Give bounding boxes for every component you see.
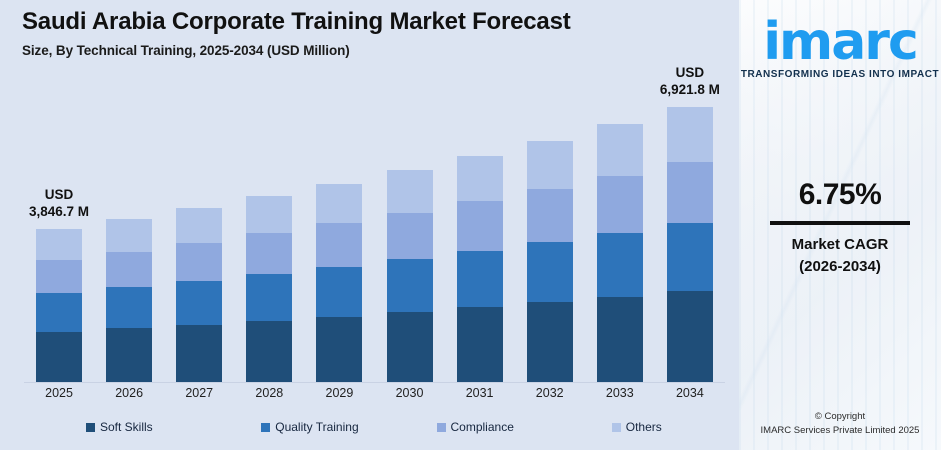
- bar-segment[interactable]: [667, 107, 713, 162]
- stacked-bar[interactable]: [387, 170, 433, 382]
- bar-segment[interactable]: [457, 307, 503, 382]
- bar-segment[interactable]: [667, 291, 713, 382]
- bar-segment[interactable]: [667, 162, 713, 223]
- brand-panel: imarc TRANSFORMING IDEAS INTO IMPACT 6.7…: [739, 0, 941, 450]
- bar-segment[interactable]: [527, 189, 573, 242]
- legend-label: Soft Skills: [100, 420, 153, 434]
- bar-slot[interactable]: USD6,921.8 M: [655, 80, 725, 382]
- x-axis-tick-label: 2028: [234, 386, 304, 400]
- stacked-bar[interactable]: [597, 124, 643, 382]
- bar-segment[interactable]: [176, 208, 222, 243]
- legend-item[interactable]: Others: [550, 420, 725, 434]
- x-axis-tick-label: 2030: [374, 386, 444, 400]
- copyright-line1: © Copyright: [739, 410, 941, 424]
- bar-segment[interactable]: [457, 251, 503, 308]
- bar-segment[interactable]: [527, 141, 573, 189]
- stacked-bar[interactable]: [527, 141, 573, 382]
- stacked-bar[interactable]: [316, 184, 362, 382]
- stacked-bar[interactable]: [106, 219, 152, 382]
- bar-slot[interactable]: [94, 80, 164, 382]
- cagr-divider: [770, 221, 910, 225]
- copyright: © Copyright IMARC Services Private Limit…: [739, 410, 941, 438]
- stacked-bar[interactable]: [36, 229, 82, 382]
- bar-segment[interactable]: [36, 332, 82, 382]
- cagr-block: 6.75% Market CAGR (2026-2034): [739, 178, 941, 278]
- logo-wordmark: imarc: [739, 18, 941, 67]
- bar-segment[interactable]: [597, 297, 643, 382]
- bar-segment[interactable]: [246, 196, 292, 233]
- x-axis-tick-label: 2032: [515, 386, 585, 400]
- bar-slot[interactable]: USD3,846.7 M: [24, 80, 94, 382]
- bar-slot[interactable]: [374, 80, 444, 382]
- bar-slot[interactable]: [234, 80, 304, 382]
- chart-header: Saudi Arabia Corporate Training Market F…: [22, 8, 571, 58]
- stacked-bar[interactable]: [246, 196, 292, 382]
- bar-segment[interactable]: [36, 260, 82, 294]
- bar-segment[interactable]: [316, 317, 362, 382]
- x-axis-tick-label: 2029: [304, 386, 374, 400]
- bar-segment[interactable]: [36, 229, 82, 260]
- legend-item[interactable]: Compliance: [375, 420, 550, 434]
- x-axis-tick-label: 2027: [164, 386, 234, 400]
- bar-segment[interactable]: [527, 302, 573, 382]
- bar-segment[interactable]: [246, 274, 292, 320]
- legend-swatch-icon: [612, 423, 621, 432]
- legend-swatch-icon: [86, 423, 95, 432]
- bar-segment[interactable]: [106, 219, 152, 252]
- bar-segment[interactable]: [457, 201, 503, 251]
- bar-segment[interactable]: [597, 124, 643, 176]
- bar-segment[interactable]: [527, 242, 573, 302]
- bar-segment[interactable]: [316, 223, 362, 267]
- bar-segment[interactable]: [387, 259, 433, 312]
- bar-segment[interactable]: [246, 321, 292, 382]
- legend-label: Others: [626, 420, 662, 434]
- plot-area: USD3,846.7 MUSD6,921.8 M: [0, 80, 739, 383]
- stacked-bar[interactable]: [176, 208, 222, 382]
- bar-segment[interactable]: [387, 213, 433, 260]
- bar-slot[interactable]: [445, 80, 515, 382]
- bar-segment[interactable]: [176, 281, 222, 325]
- x-axis-tick-label: 2034: [655, 386, 725, 400]
- bar-segment[interactable]: [246, 233, 292, 274]
- bar-group: USD3,846.7 MUSD6,921.8 M: [24, 80, 725, 382]
- x-axis-line: [24, 382, 725, 383]
- bar-segment[interactable]: [667, 223, 713, 292]
- stacked-bar[interactable]: [457, 156, 503, 382]
- bar-segment[interactable]: [316, 184, 362, 224]
- legend-swatch-icon: [437, 423, 446, 432]
- x-axis-tick-label: 2026: [94, 386, 164, 400]
- bar-value-label: USD6,921.8 M: [615, 65, 739, 99]
- imarc-logo: imarc TRANSFORMING IDEAS INTO IMPACT: [739, 18, 941, 80]
- x-axis-labels: 2025202620272028202920302031203220332034: [24, 386, 725, 400]
- bar-segment[interactable]: [597, 233, 643, 297]
- bar-segment[interactable]: [36, 293, 82, 331]
- legend-swatch-icon: [261, 423, 270, 432]
- page-subtitle: Size, By Technical Training, 2025-2034 (…: [22, 43, 571, 58]
- bar-slot[interactable]: [585, 80, 655, 382]
- bar-segment[interactable]: [457, 156, 503, 201]
- cagr-value: 6.75%: [739, 178, 941, 212]
- bar-slot[interactable]: [515, 80, 585, 382]
- bar-segment[interactable]: [597, 176, 643, 233]
- bar-segment[interactable]: [316, 267, 362, 317]
- bar-segment[interactable]: [176, 325, 222, 382]
- bar-slot[interactable]: [304, 80, 374, 382]
- bar-segment[interactable]: [387, 170, 433, 212]
- stacked-bar[interactable]: [667, 107, 713, 382]
- x-axis-tick-label: 2031: [445, 386, 515, 400]
- legend-label: Compliance: [451, 420, 514, 434]
- chart-page: Saudi Arabia Corporate Training Market F…: [0, 0, 941, 450]
- cagr-label-line1: Market CAGR: [739, 234, 941, 256]
- bar-slot[interactable]: [164, 80, 234, 382]
- bar-segment[interactable]: [106, 287, 152, 328]
- logo-tagline: TRANSFORMING IDEAS INTO IMPACT: [739, 69, 941, 80]
- cagr-label-line2: (2026-2034): [739, 256, 941, 278]
- legend-item[interactable]: Quality Training: [199, 420, 374, 434]
- bar-segment[interactable]: [387, 312, 433, 382]
- x-axis-tick-label: 2033: [585, 386, 655, 400]
- legend-item[interactable]: Soft Skills: [24, 420, 199, 434]
- copyright-line2: IMARC Services Private Limited 2025: [739, 424, 941, 438]
- legend-label: Quality Training: [275, 420, 358, 434]
- chart-legend: Soft SkillsQuality TrainingComplianceOth…: [24, 420, 725, 434]
- chart-panel: Saudi Arabia Corporate Training Market F…: [0, 0, 739, 450]
- bar-segment[interactable]: [106, 328, 152, 382]
- bar-segment[interactable]: [106, 252, 152, 288]
- bar-segment[interactable]: [176, 243, 222, 281]
- page-title: Saudi Arabia Corporate Training Market F…: [22, 8, 571, 37]
- x-axis-tick-label: 2025: [24, 386, 94, 400]
